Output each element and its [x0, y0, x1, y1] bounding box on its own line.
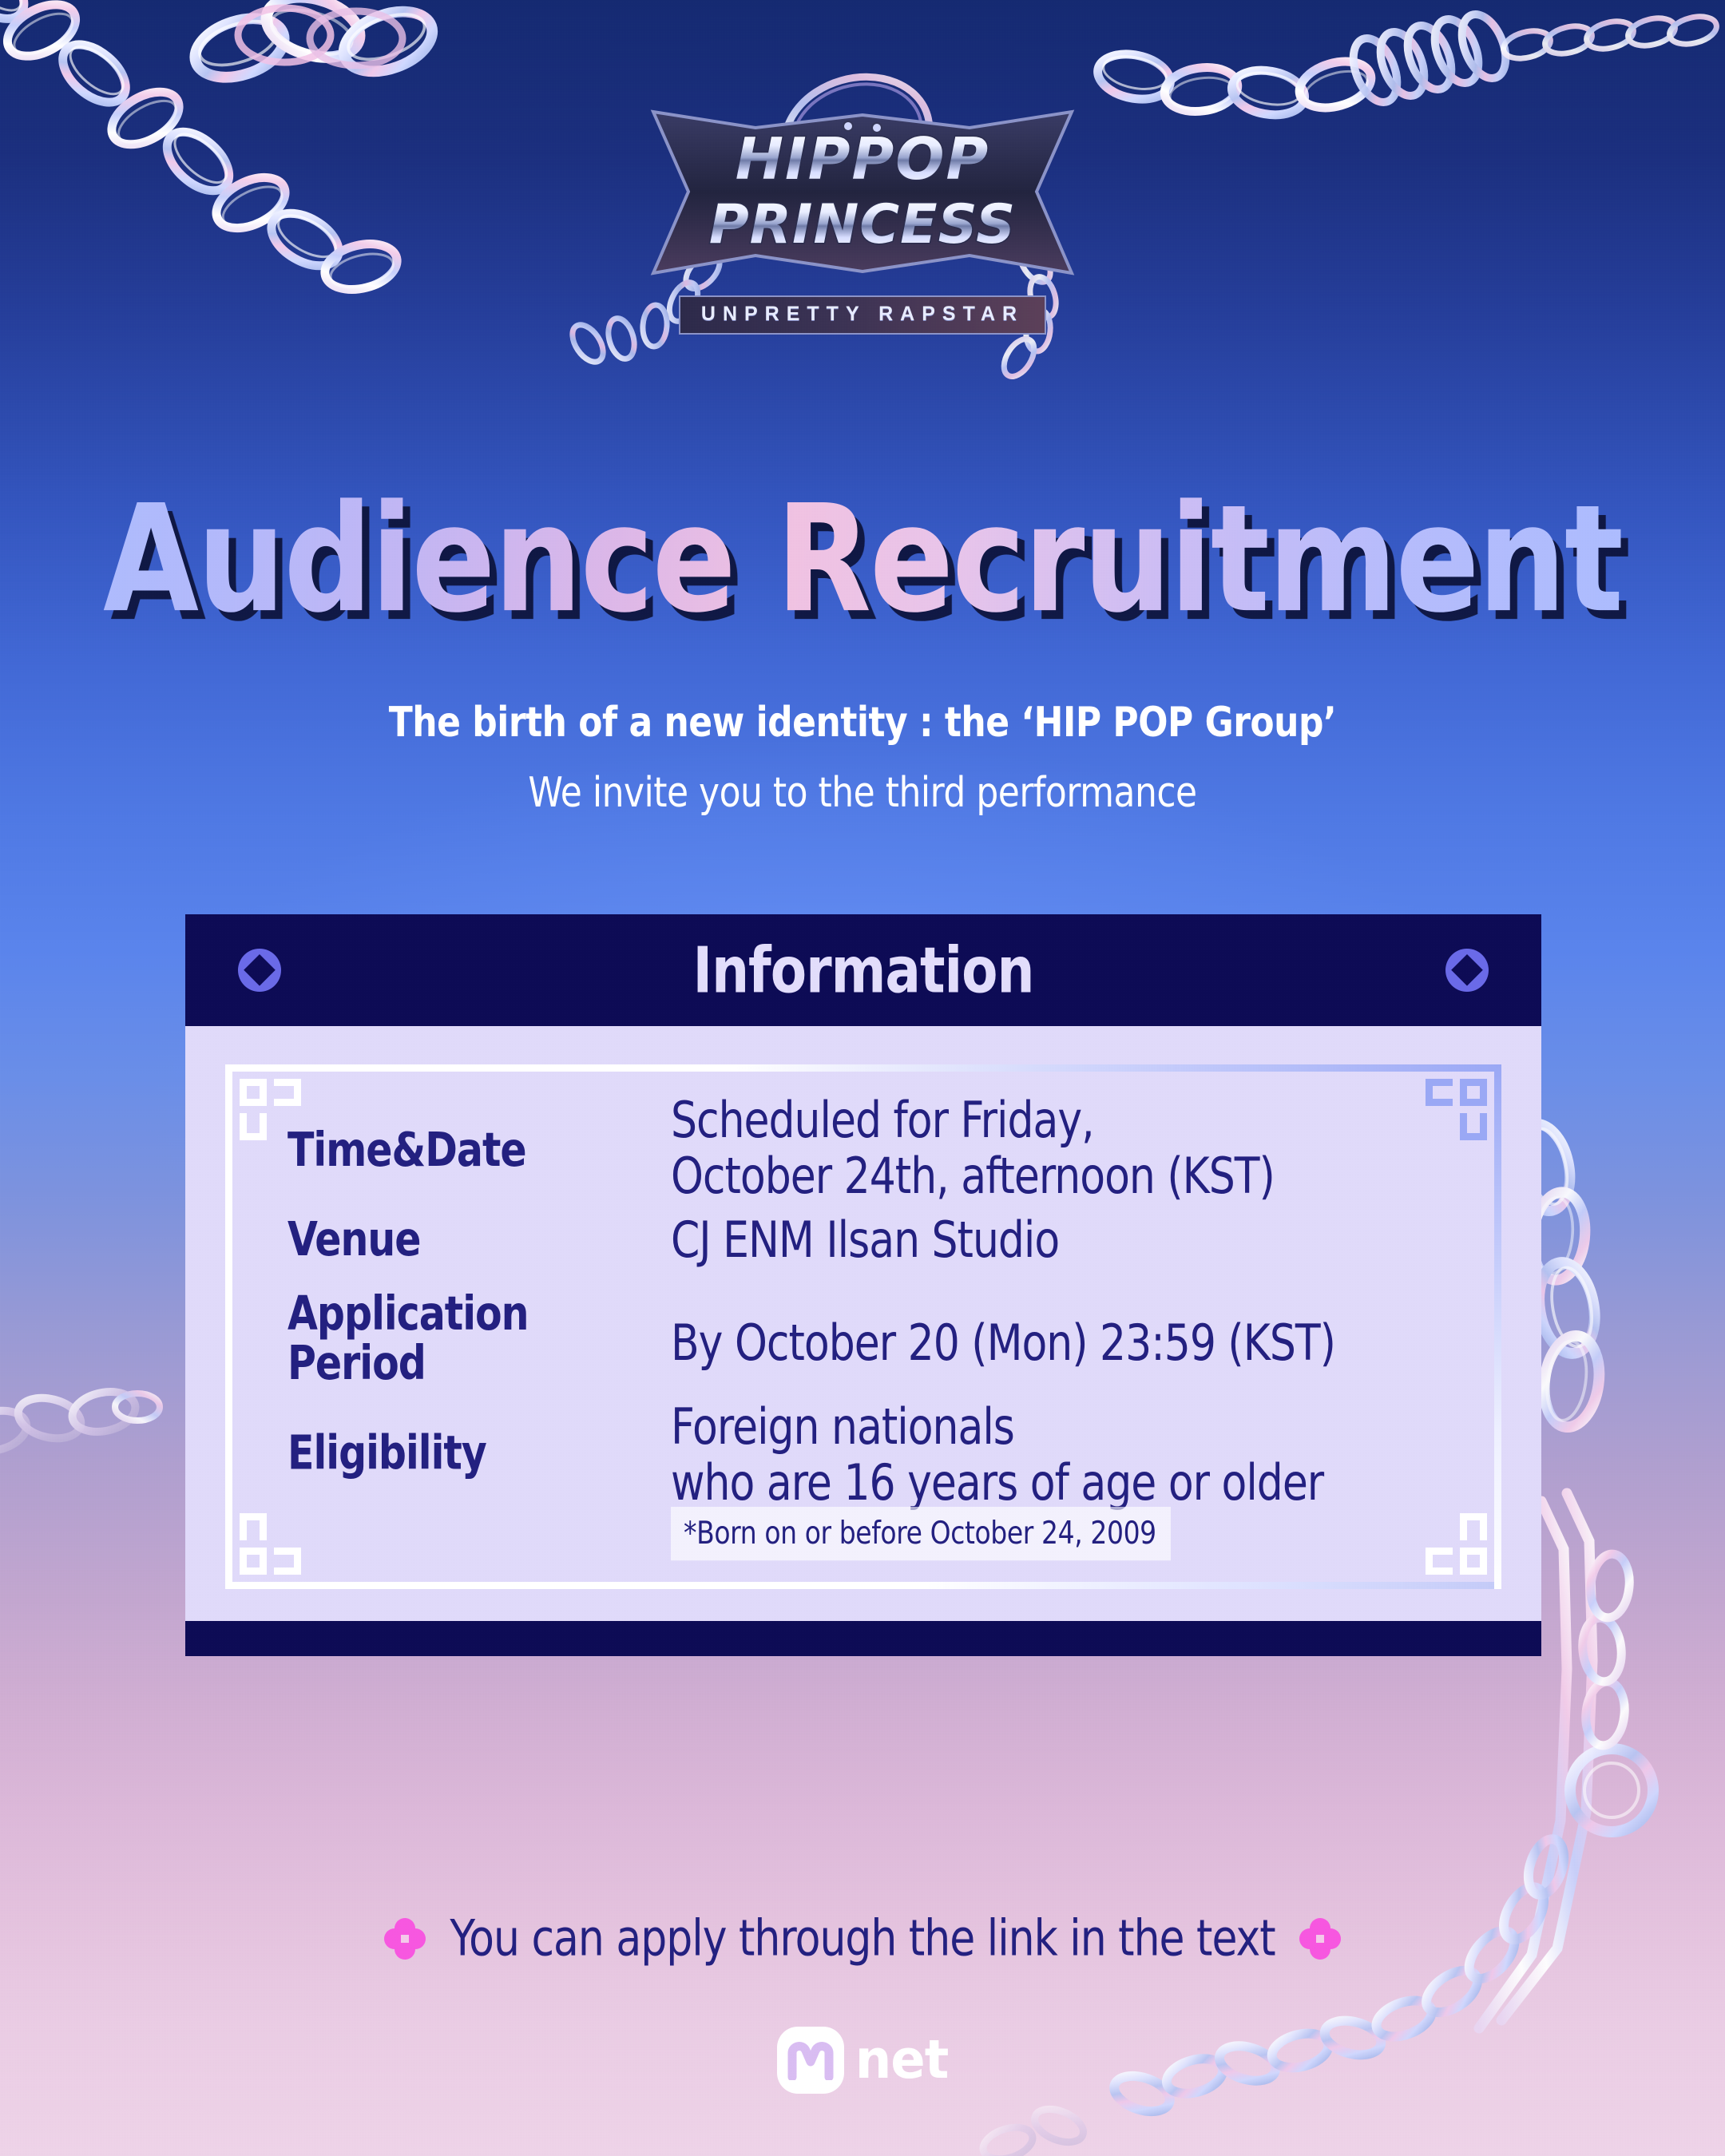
mnet-m-glyph-icon [787, 2040, 834, 2080]
info-value: CJ ENM Ilsan Studio [671, 1213, 1465, 1269]
info-label: Application Period [287, 1287, 671, 1389]
info-label: Venue [287, 1213, 671, 1265]
information-rows: Time&Date Scheduled for Friday, October … [185, 1080, 1541, 1552]
information-card: Information [185, 914, 1541, 1656]
information-card-body: Time&Date Scheduled for Friday, October … [185, 1026, 1541, 1621]
info-value-group: Foreign nationals who are 16 years of ag… [671, 1400, 1465, 1552]
clover-flower-icon [1299, 1918, 1341, 1960]
svg-text:HIPPOP: HIPPOP [736, 125, 990, 192]
info-label: Time&Date [287, 1093, 671, 1176]
mnet-logo: net [0, 2027, 1725, 2094]
logo-subtitle-text: UNPRETTY RAPSTAR [701, 303, 1024, 326]
hippop-princess-logo-icon: HIPPOP PRINCESS [639, 89, 1086, 289]
info-row-application-period: Application Period By October 20 (Mon) 2… [287, 1287, 1465, 1373]
subtitle-line-1: The birth of a new identity : the ‘HIP P… [0, 699, 1725, 747]
apply-text: You can apply through the link in the te… [450, 1910, 1275, 1968]
diamond-in-circle-icon [1442, 945, 1492, 995]
info-value: By October 20 (Mon) 23:59 (KST) [671, 1287, 1465, 1372]
clover-flower-icon [384, 1918, 426, 1960]
eligibility-note: *Born on or before October 24, 2009 [671, 1507, 1171, 1560]
info-label: Eligibility [287, 1400, 671, 1479]
logo-subtitle-plate: UNPRETTY RAPSTAR [679, 295, 1046, 335]
page-title: Audience Recruitment [0, 485, 1725, 633]
info-row-venue: Venue CJ ENM Ilsan Studio [287, 1213, 1465, 1259]
mnet-wordmark: net [855, 2029, 949, 2091]
subtitle-line-2: We invite you to the third performance [0, 769, 1725, 817]
svg-text:PRINCESS: PRINCESS [709, 193, 1016, 256]
information-card-footer-bar [185, 1621, 1541, 1656]
mnet-mark-icon [777, 2027, 844, 2094]
info-row-eligibility: Eligibility Foreign nationals who are 16… [287, 1400, 1465, 1552]
poster-canvas: HIPPOP PRINCESS UNPRETTY RAPSTAR Audienc… [0, 0, 1725, 2156]
diamond-in-circle-icon [235, 945, 284, 995]
information-card-header: Information [185, 914, 1541, 1026]
show-logo: HIPPOP PRINCESS UNPRETTY RAPSTAR [0, 89, 1725, 335]
info-value: Scheduled for Friday, October 24th, afte… [671, 1093, 1465, 1205]
apply-callout[interactable]: You can apply through the link in the te… [0, 1915, 1725, 1963]
information-card-title: Information [693, 933, 1034, 1007]
info-row-time-date: Time&Date Scheduled for Friday, October … [287, 1093, 1465, 1186]
info-value: Foreign nationals who are 16 years of ag… [671, 1400, 1465, 1512]
